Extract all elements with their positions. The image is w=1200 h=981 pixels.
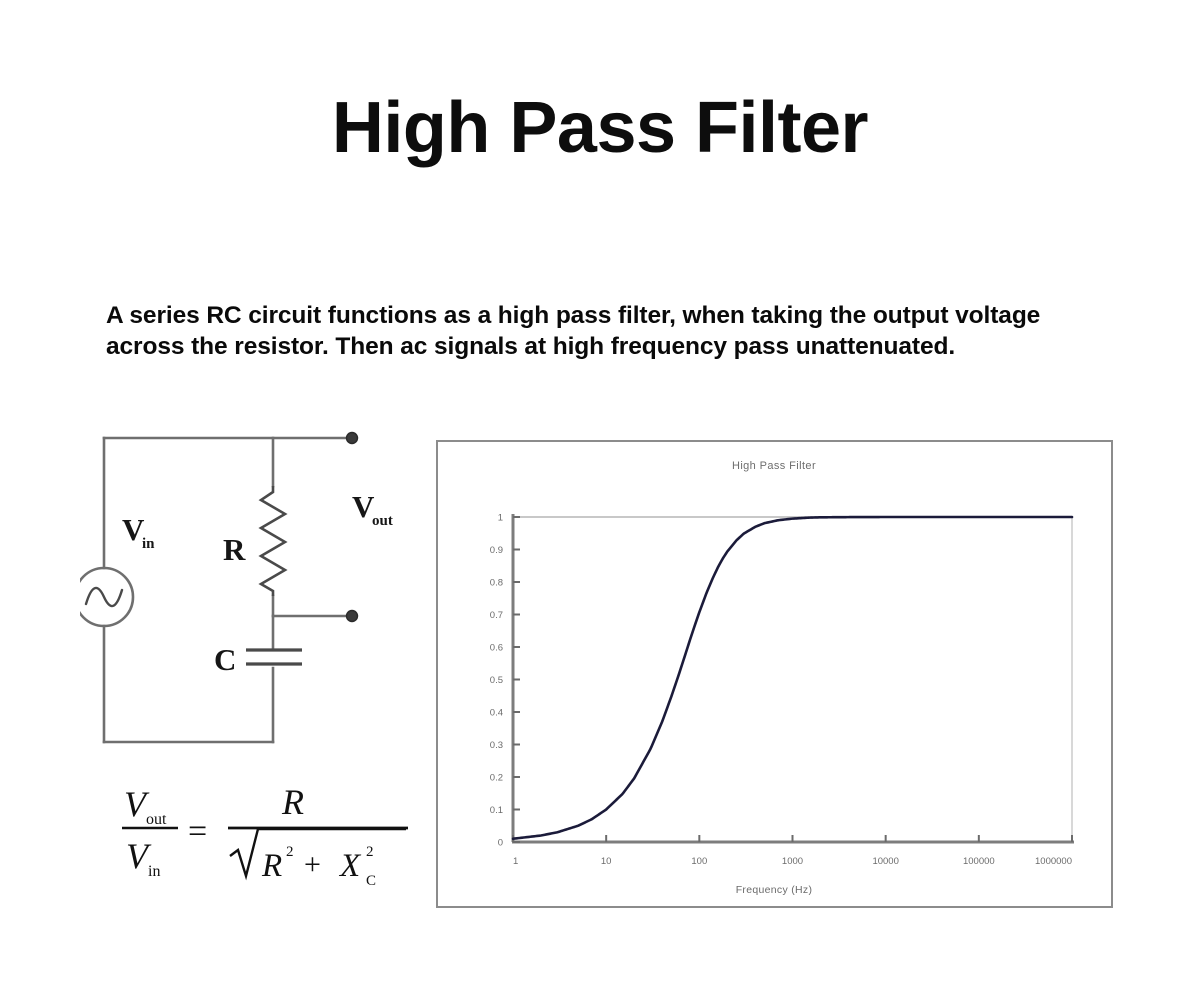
formula-vout-sub: out [146,811,167,828]
transfer-function-formula: V out V in = R R 2 + X C 2 [118,772,418,890]
formula-denominator-r-exponent: 2 [286,844,294,860]
formula-denominator-x: X [338,848,362,884]
x-tick-label: 10000 [872,856,898,867]
x-axis-ticks: 1101001000100001000001000000 [513,835,1072,867]
y-tick-label: 0.4 [490,708,503,719]
y-axis-ticks: 00.10.20.30.40.50.60.70.80.91 [490,513,520,849]
ac-sine-glyph [86,588,122,606]
frequency-response-chart: High Pass Filter 00.10.20.30.40.50.60.70… [436,440,1113,908]
resistor-label: R [223,532,246,567]
x-tick-label: 1000000 [1035,856,1072,867]
x-tick-label: 1 [513,856,518,867]
x-axis-title: Frequency (Hz) [736,884,813,896]
x-tick-label: 1000 [782,856,803,867]
capacitor-label: C [214,642,236,677]
y-tick-label: 0.6 [490,643,503,654]
formula-numerator-r: R [281,782,304,822]
chart-axes [512,514,1074,842]
y-tick-label: 0.1 [490,805,503,816]
capacitor-symbol [246,650,302,664]
chart-title: High Pass Filter [732,460,816,472]
response-curve [513,517,1072,839]
formula-denominator-r: R [261,848,282,884]
formula-denominator-x-subscript: C [366,873,376,889]
formula-denominator-x-exponent: 2 [366,844,374,860]
y-tick-label: 0.9 [490,545,503,556]
output-terminal-top [347,433,358,444]
x-tick-label: 100 [691,856,707,867]
y-tick-label: 0 [498,838,503,849]
x-tick-label: 10 [601,856,612,867]
x-tick-label: 100000 [963,856,995,867]
y-tick-label: 0.8 [490,578,503,589]
formula-equals: = [188,813,207,850]
y-tick-label: 0.7 [490,610,503,621]
page-title: High Pass Filter [0,88,1200,168]
rc-circuit-diagram: V in R C V out [80,420,440,760]
vin-subscript: in [142,536,155,552]
formula-vin-sub: in [148,863,160,880]
y-tick-label: 0.2 [490,773,503,784]
body-paragraph: A series RC circuit functions as a high … [106,300,1086,362]
resistor-symbol [261,486,285,596]
vout-subscript: out [372,513,393,529]
formula-plus: + [304,848,321,881]
plot-frame [513,517,1072,842]
output-terminal-bottom [347,611,358,622]
y-tick-label: 0.5 [490,675,503,686]
y-tick-label: 0.3 [490,740,503,751]
y-tick-label: 1 [498,513,503,524]
